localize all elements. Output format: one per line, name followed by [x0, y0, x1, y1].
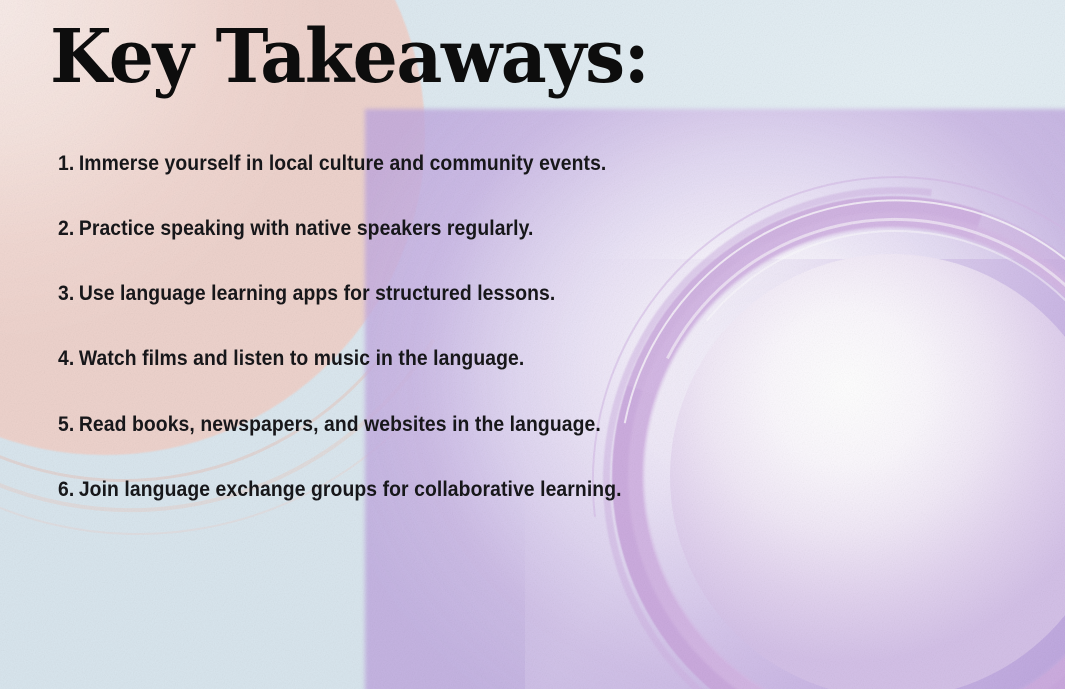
list-item: 5.Read books, newspapers, and websites i… [58, 413, 928, 437]
list-item-text: Join language exchange groups for collab… [79, 477, 622, 501]
takeaways-list: 1.Immerse yourself in local culture and … [58, 152, 1025, 501]
list-item-number: 6. [58, 477, 74, 501]
list-item-text: Practice speaking with native speakers r… [79, 216, 534, 240]
list-item: 1.Immerse yourself in local culture and … [58, 152, 928, 176]
list-item-number: 3. [58, 281, 74, 305]
list-item-text: Read books, newspapers, and websites in … [79, 412, 601, 436]
list-item: 4.Watch films and listen to music in the… [58, 347, 928, 371]
list-item: 6.Join language exchange groups for coll… [58, 478, 928, 502]
list-item-text: Immerse yourself in local culture and co… [79, 151, 607, 175]
list-item-number: 1. [58, 151, 74, 175]
list-item: 2.Practice speaking with native speakers… [58, 217, 928, 241]
list-item-number: 4. [58, 346, 74, 370]
poster-canvas: Key Takeaways: 1.Immerse yourself in loc… [0, 0, 1065, 689]
list-item-text: Use language learning apps for structure… [79, 281, 556, 305]
page-title: Key Takeaways: [50, 20, 648, 94]
poster-content: Key Takeaways: 1.Immerse yourself in loc… [0, 0, 1065, 689]
list-item: 3.Use language learning apps for structu… [58, 282, 928, 306]
list-item-text: Watch films and listen to music in the l… [79, 346, 524, 370]
list-item-number: 2. [58, 216, 74, 240]
list-item-number: 5. [58, 412, 74, 436]
